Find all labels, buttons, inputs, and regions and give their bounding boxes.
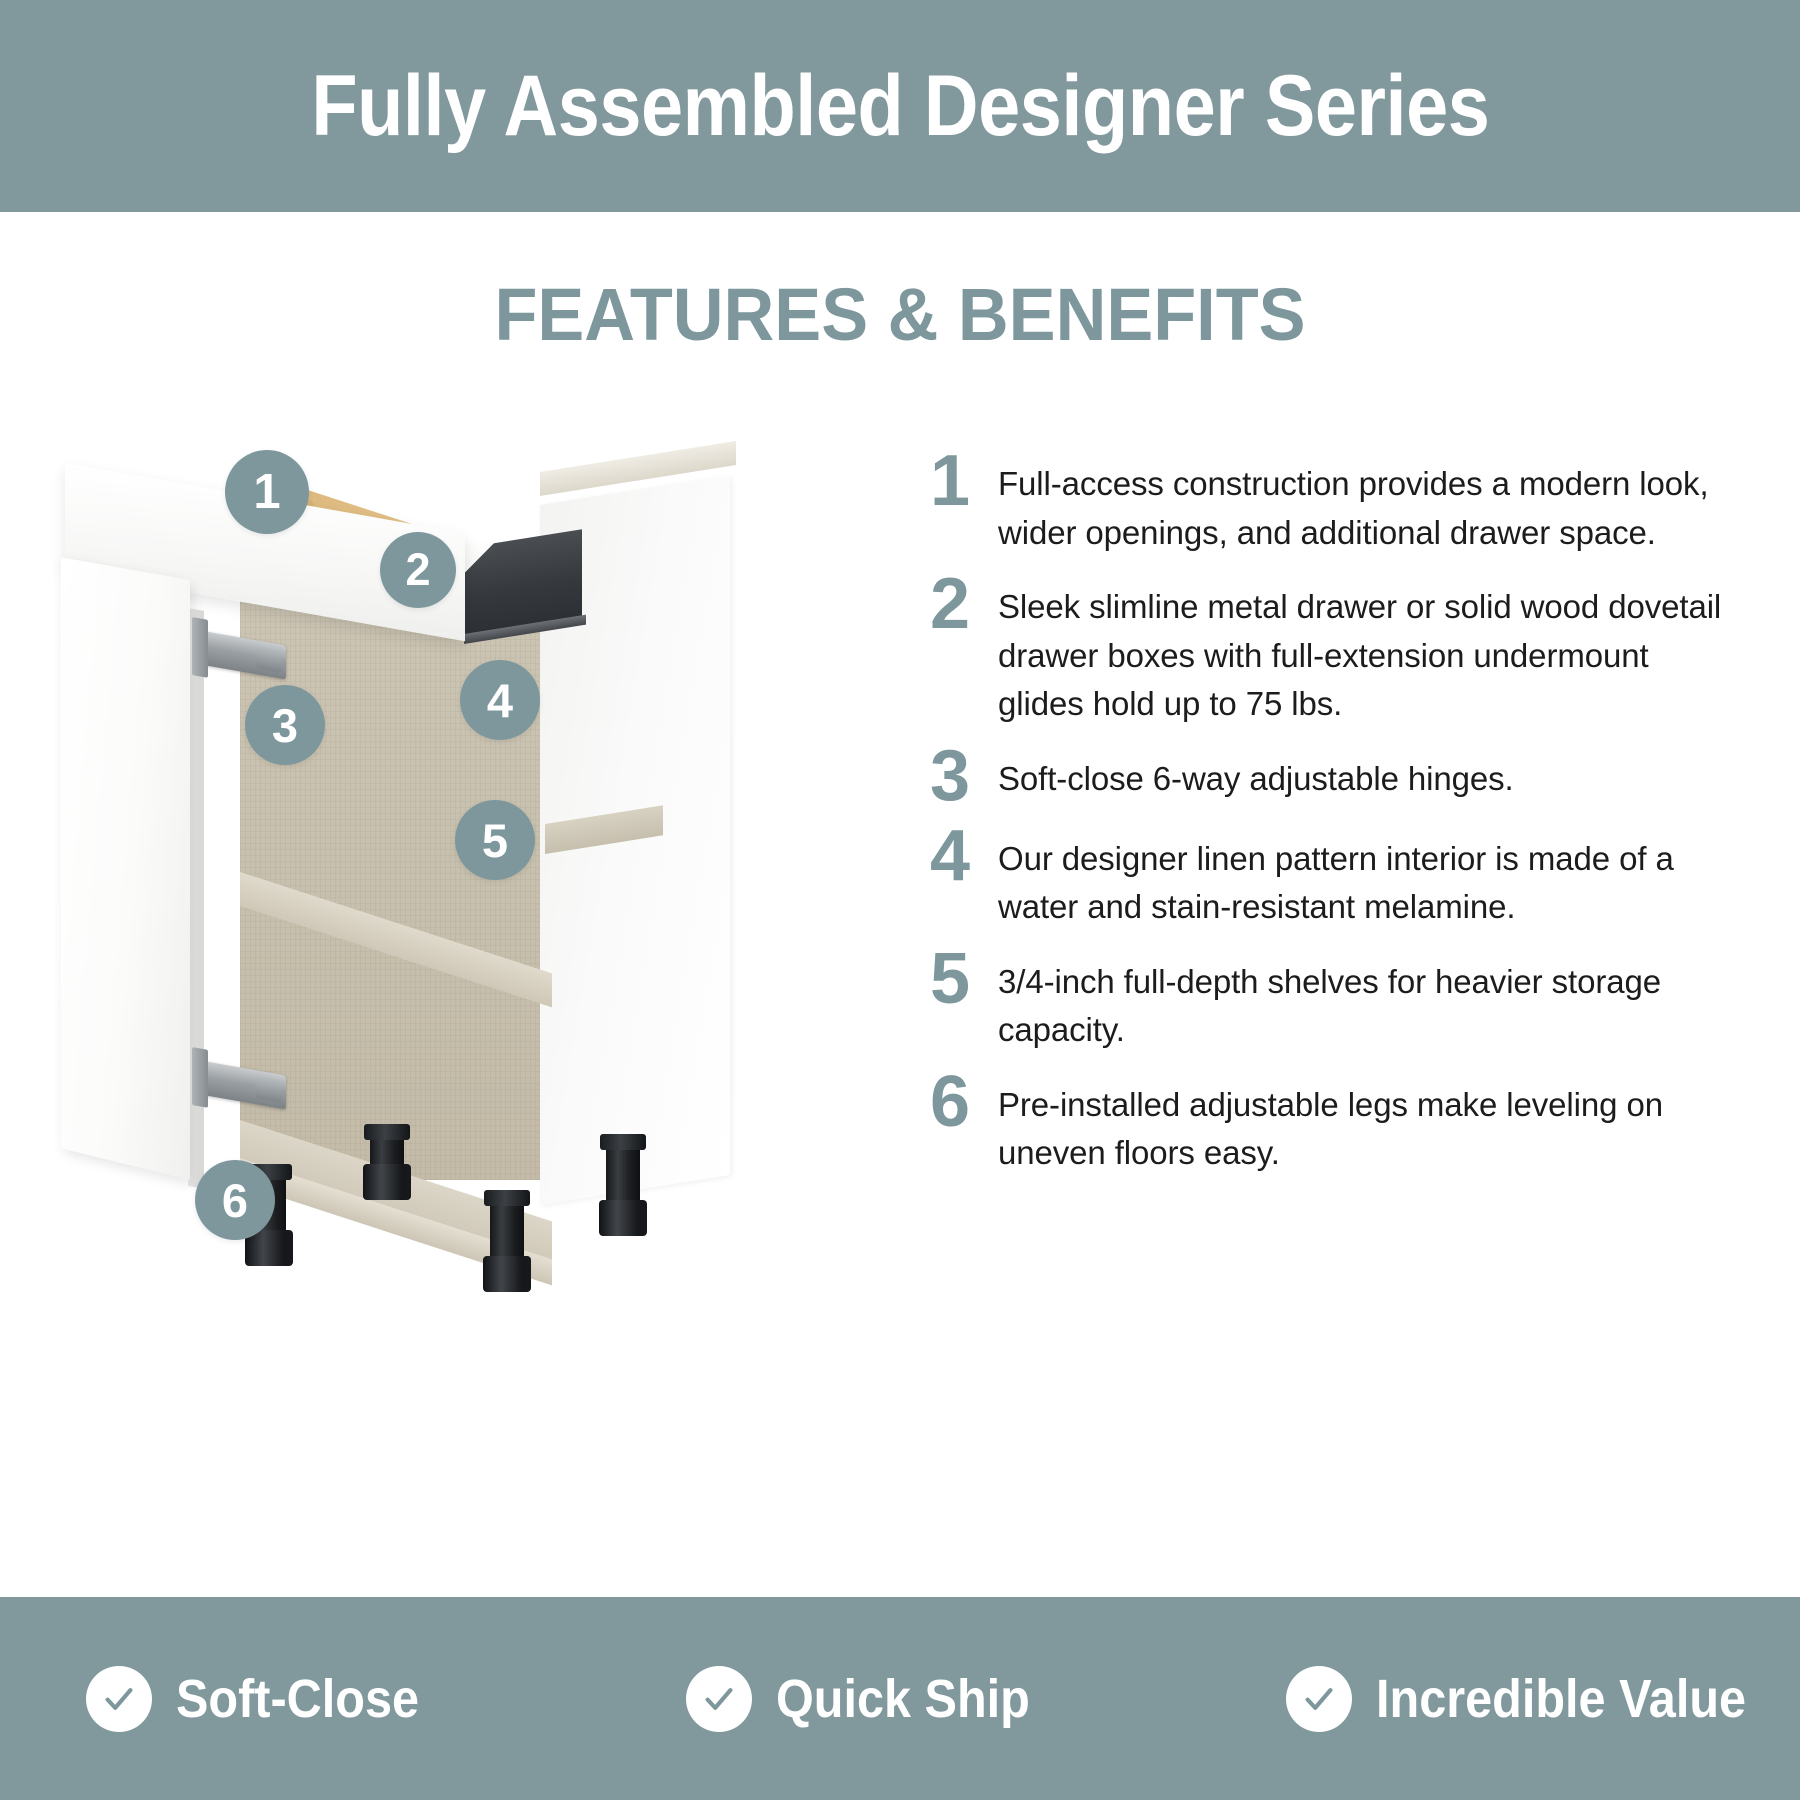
callout-badge-6: 6 — [195, 1160, 275, 1240]
footer-item-label: Quick Ship — [776, 1672, 1030, 1726]
section-heading: FEATURES & BENEFITS — [45, 278, 1755, 352]
feature-item-4: 4 Our designer linen pattern interior is… — [930, 823, 1740, 932]
hinge-mounting-plate — [192, 1047, 208, 1108]
footer-item-soft-close: Soft-Close — [0, 1666, 600, 1732]
feature-item-1: 1 Full-access construction provides a mo… — [930, 448, 1740, 557]
feature-number: 5 — [930, 946, 998, 1012]
check-circle-icon — [1286, 1666, 1352, 1732]
adjustable-leg — [606, 1146, 640, 1236]
check-circle-icon — [686, 1666, 752, 1732]
feature-number: 6 — [930, 1069, 998, 1135]
feature-description: Sleek slimline metal drawer or solid woo… — [998, 571, 1740, 729]
callout-badge-label: 6 — [222, 1173, 248, 1228]
feature-description: Pre-installed adjustable legs make level… — [998, 1069, 1740, 1178]
page-title: Fully Assembled Designer Series — [311, 63, 1489, 149]
footer-item-label: Incredible Value — [1376, 1672, 1746, 1726]
cabinet-illustration: 1 2 3 4 5 6 — [40, 420, 920, 1420]
callout-badge-label: 3 — [272, 698, 298, 753]
feature-description: Our designer linen pattern interior is m… — [998, 823, 1740, 932]
callout-badge-label: 1 — [253, 464, 280, 520]
product-image-cabinet: 1 2 3 4 5 6 — [40, 420, 920, 1420]
features-list: 1 Full-access construction provides a mo… — [930, 448, 1740, 1192]
feature-number: 4 — [930, 823, 998, 889]
feature-number: 2 — [930, 571, 998, 637]
hinge-cup — [256, 646, 282, 673]
hinge-cup — [256, 1076, 282, 1103]
feature-item-6: 6 Pre-installed adjustable legs make lev… — [930, 1069, 1740, 1178]
adjustable-leg — [490, 1202, 524, 1292]
check-circle-icon — [86, 1666, 152, 1732]
footer-item-incredible-value: Incredible Value — [1200, 1666, 1800, 1732]
callout-badge-5: 5 — [455, 800, 535, 880]
feature-description: Soft-close 6-way adjustable hinges. — [998, 743, 1740, 804]
feature-item-3: 3 Soft-close 6-way adjustable hinges. — [930, 743, 1740, 809]
footer-item-quick-ship: Quick Ship — [600, 1666, 1200, 1732]
footer-item-label: Soft-Close — [176, 1672, 419, 1726]
callout-badge-4: 4 — [460, 660, 540, 740]
cabinet-door — [61, 557, 190, 1180]
callout-badge-3: 3 — [245, 685, 325, 765]
feature-item-2: 2 Sleek slimline metal drawer or solid w… — [930, 571, 1740, 729]
feature-number: 3 — [930, 743, 998, 809]
callout-badge-label: 4 — [487, 673, 513, 728]
callout-badge-label: 2 — [405, 544, 430, 596]
feature-description: 3/4-inch full-depth shelves for heavier … — [998, 946, 1740, 1055]
callout-badge-label: 5 — [482, 813, 508, 868]
header-bar: Fully Assembled Designer Series — [0, 0, 1800, 212]
feature-number: 1 — [930, 448, 998, 514]
feature-item-5: 5 3/4-inch full-depth shelves for heavie… — [930, 946, 1740, 1055]
adjustable-leg — [370, 1136, 404, 1200]
callout-badge-1: 1 — [225, 450, 309, 534]
feature-description: Full-access construction provides a mode… — [998, 448, 1740, 557]
main-content: 1 2 3 4 5 6 1 Full-access construction p… — [0, 420, 1800, 1570]
callout-badge-2: 2 — [380, 532, 456, 608]
footer-bar: Soft-Close Quick Ship Incredible Value — [0, 1597, 1800, 1800]
hinge-mounting-plate — [192, 617, 208, 678]
